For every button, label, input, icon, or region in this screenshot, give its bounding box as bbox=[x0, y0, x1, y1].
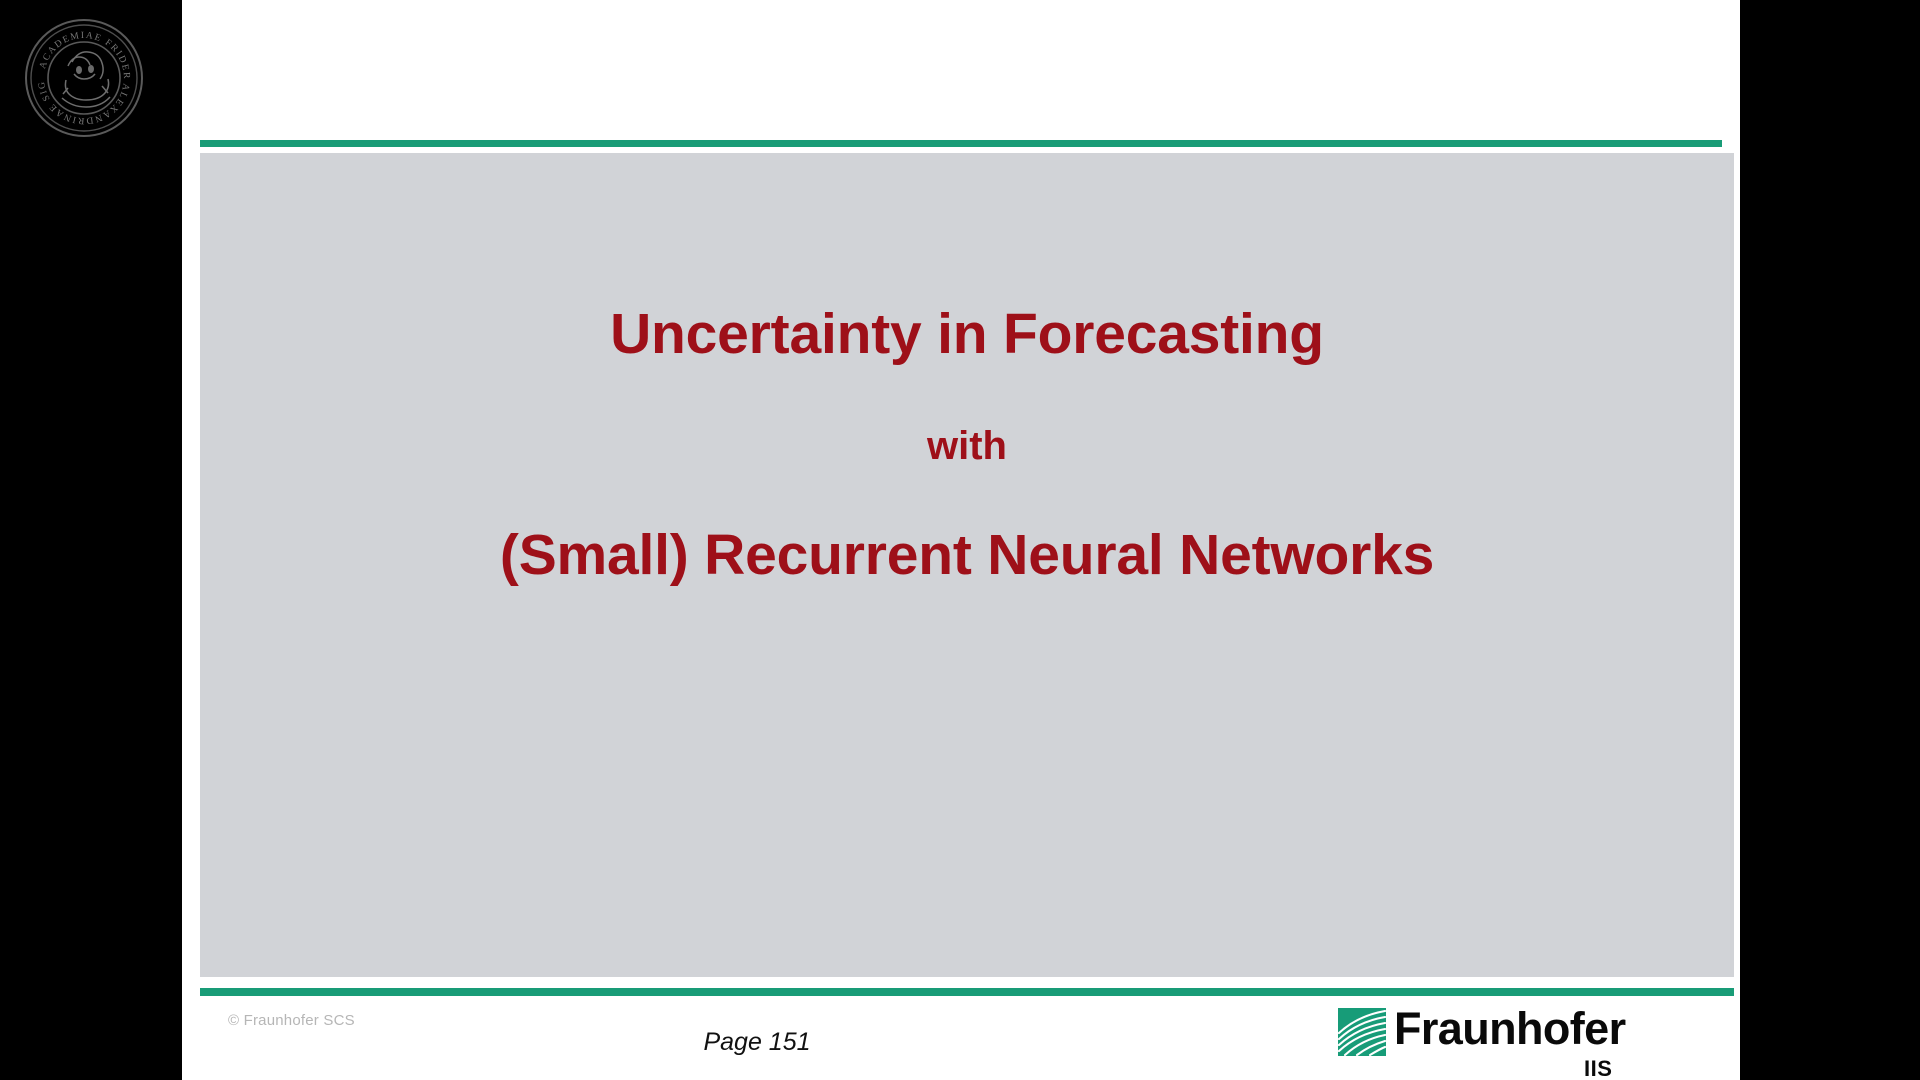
bottom-accent-rule bbox=[200, 988, 1734, 996]
copyright-text: © Fraunhofer SCS bbox=[228, 1012, 355, 1029]
letterbox-left: ACADEMIAE FRIDERICO ALEXANDRINAE SIGILLV… bbox=[0, 0, 182, 1080]
slide-content-panel: Uncertainty in Forecasting with (Small) … bbox=[200, 153, 1734, 977]
fraunhofer-mark-icon bbox=[1338, 1008, 1386, 1056]
slide-title-primary: Uncertainty in Forecasting bbox=[200, 303, 1734, 366]
university-seal-icon: ACADEMIAE FRIDERICO ALEXANDRINAE SIGILLV… bbox=[22, 16, 146, 140]
presentation-screen: ACADEMIAE FRIDERICO ALEXANDRINAE SIGILLV… bbox=[0, 0, 1920, 1080]
slide-title-connector: with bbox=[200, 424, 1734, 468]
page-number: Page 151 bbox=[182, 1028, 1332, 1057]
top-accent-rule bbox=[200, 140, 1722, 147]
fraunhofer-wordmark: Fraunhofer bbox=[1394, 1006, 1626, 1051]
title-block: Uncertainty in Forecasting with (Small) … bbox=[200, 303, 1734, 586]
slide-title-secondary: (Small) Recurrent Neural Networks bbox=[200, 524, 1734, 587]
fraunhofer-logo: Fraunhofer IIS bbox=[1338, 1008, 1668, 1080]
slide-canvas: Uncertainty in Forecasting with (Small) … bbox=[182, 0, 1740, 1080]
letterbox-right bbox=[1740, 0, 1920, 1080]
fraunhofer-institute-label: IIS bbox=[1584, 1058, 1612, 1080]
slide-footer: © Fraunhofer SCS Page 151 bbox=[182, 996, 1740, 1080]
